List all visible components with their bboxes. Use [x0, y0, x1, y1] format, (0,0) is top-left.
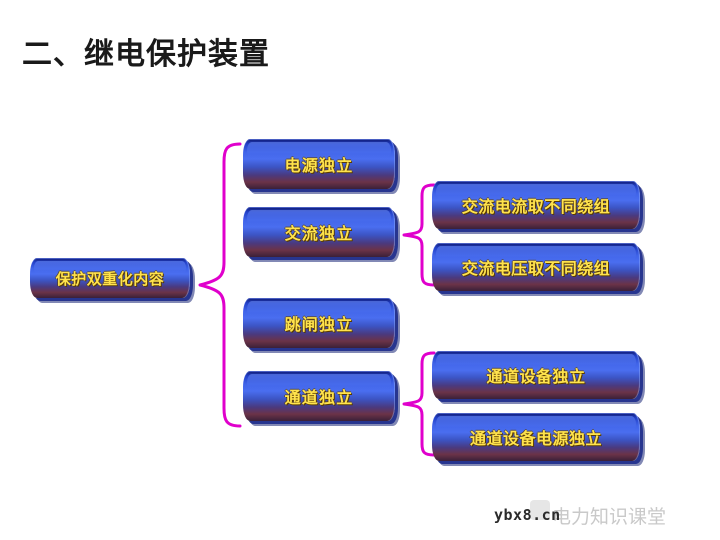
node-trip-independent[interactable]: 跳闸独立 — [243, 298, 395, 348]
node-label: 跳闸独立 — [285, 311, 354, 335]
node-label: 通道设备电源独立 — [470, 425, 602, 449]
node-power-independent[interactable]: 电源独立 — [243, 139, 395, 189]
node-label: 交流电压取不同绕组 — [462, 255, 611, 279]
node-root-label: 保护双重化内容 — [56, 268, 165, 289]
node-label: 交流独立 — [285, 220, 354, 244]
node-channel-independent[interactable]: 通道独立 — [243, 371, 395, 421]
watermark: 电力知识课堂 ybx8.cn — [494, 498, 712, 532]
node-ac-independent[interactable]: 交流独立 — [243, 207, 395, 257]
page-title: 二、继电保护装置 — [22, 40, 270, 70]
brace-channel — [400, 350, 436, 458]
node-ac-voltage-windings[interactable]: 交流电压取不同绕组 — [432, 243, 640, 291]
node-label: 交流电流取不同绕组 — [462, 193, 611, 217]
node-channel-equipment-independent[interactable]: 通道设备独立 — [432, 351, 640, 399]
brace-root — [196, 140, 242, 430]
brace-ac — [400, 182, 436, 288]
node-channel-equipment-power-independent[interactable]: 通道设备电源独立 — [432, 413, 640, 461]
slide-canvas: 二、继电保护装置 保护双重化内容 电源独立 交流独立 跳闸独立 通道独立 交流 — [0, 0, 720, 540]
node-ac-current-windings[interactable]: 交流电流取不同绕组 — [432, 181, 640, 229]
node-label: 电源独立 — [285, 152, 354, 176]
node-label: 通道独立 — [285, 384, 354, 408]
node-root[interactable]: 保护双重化内容 — [30, 258, 190, 298]
watermark-site: ybx8.cn — [494, 506, 561, 524]
watermark-brand: 电力知识课堂 — [552, 502, 666, 529]
node-label: 通道设备独立 — [486, 363, 585, 387]
